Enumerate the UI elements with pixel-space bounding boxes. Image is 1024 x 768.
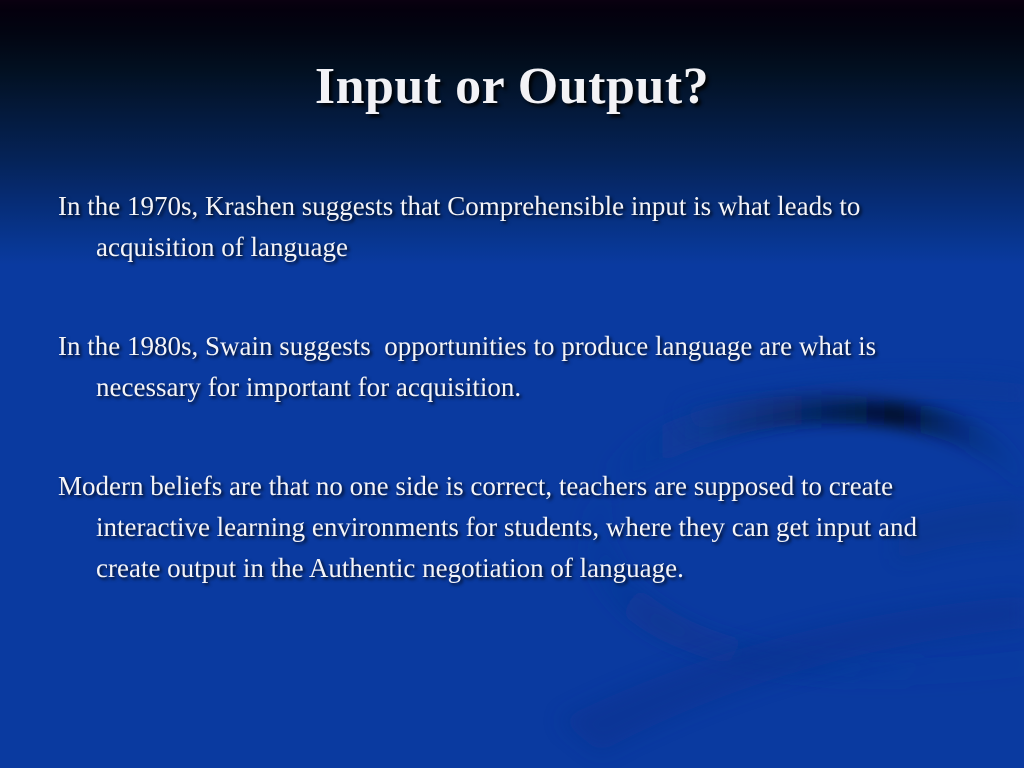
paragraph-spacer: [58, 408, 978, 466]
slide-title: Input or Output?: [0, 60, 1024, 115]
paragraph-spacer: [58, 268, 978, 326]
body-paragraph-swain-output: In the 1980s, Swain suggests opportuniti…: [58, 326, 978, 408]
body-paragraph-modern-beliefs: Modern beliefs are that no one side is c…: [58, 466, 978, 589]
body-paragraph-krashen-input: In the 1970s, Krashen suggests that Comp…: [58, 186, 978, 268]
slide-body: In the 1970s, Krashen suggests that Comp…: [58, 186, 978, 589]
slide-canvas: Input or Output? In the 1970s, Krashen s…: [0, 0, 1024, 768]
